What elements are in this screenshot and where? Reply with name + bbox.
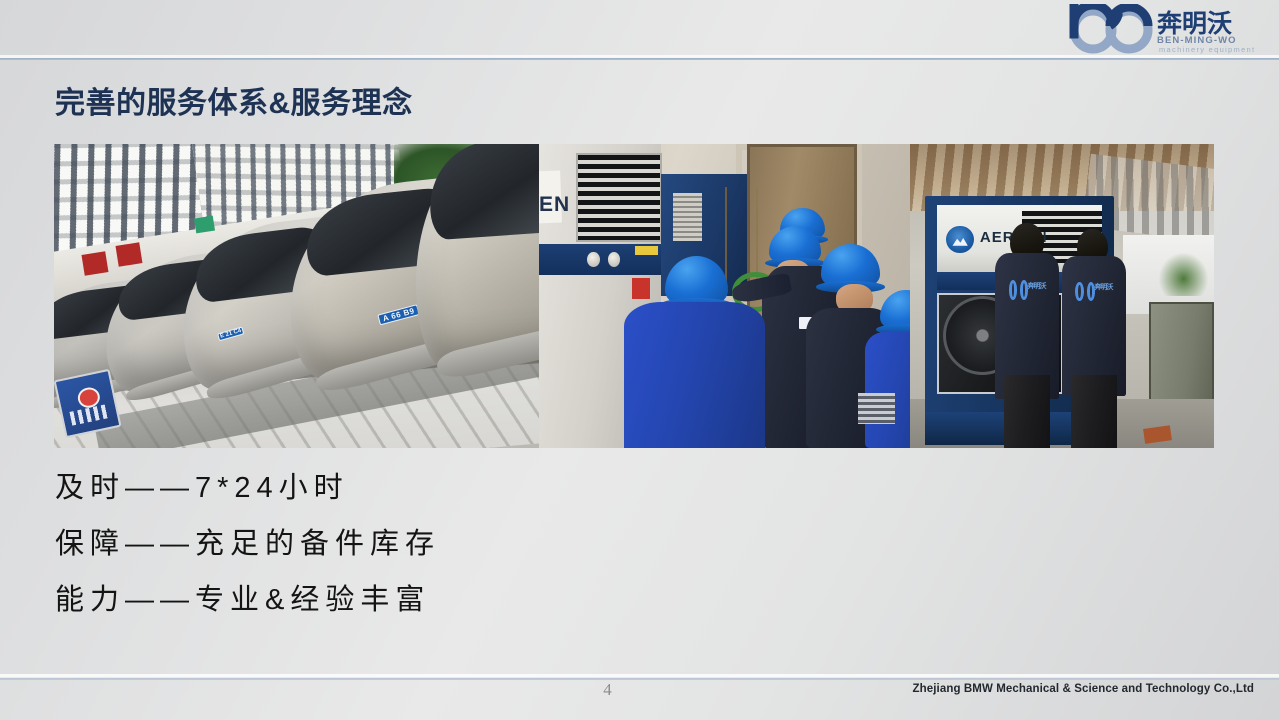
photo3-technician-1-legs	[1004, 375, 1050, 448]
photo3-uniform-bo-mark-1	[1009, 280, 1029, 300]
photo1-parking-notice-board	[54, 369, 122, 438]
photo3-uniform-chinese-2: 奔明沃	[1094, 282, 1112, 292]
photo3-uniform-chinese-1: 奔明沃	[1028, 281, 1046, 291]
logo-chinese-name: 奔明沃	[1157, 9, 1232, 38]
photo2-control-box-vent	[673, 193, 703, 242]
photo3-aerzen-logo-icon	[946, 226, 973, 253]
photo1-license-plate-medium: A 66 B9	[377, 305, 420, 327]
photo2-red-label	[632, 278, 651, 299]
service-principle-timeliness: 及时——7*24小时	[55, 474, 755, 503]
company-logo: 奔明沃 BEN-MING-WO machinery equipment	[1067, 4, 1265, 54]
photo1-license-plate-small: E 21 C4	[217, 326, 245, 341]
service-principle-capability: 能力——专业&经验丰富	[55, 586, 755, 615]
photo2-cabinet-louvers	[576, 153, 662, 242]
header-divider	[0, 57, 1279, 60]
photo3-uniform-back-logo-1: 奔明沃	[1009, 278, 1046, 301]
service-principle-guarantee: 保障——充足的备件库存	[55, 530, 755, 559]
photo-company-service-vehicles: E 21 C4 A 66 B9 G 382P8	[54, 144, 539, 448]
page-title: 完善的服务体系&服务理念	[55, 78, 413, 122]
photo2-reflective-stripe	[858, 393, 895, 423]
service-principles-list: 及时——7*24小时 保障——充足的备件库存 能力——专业&经验丰富	[55, 474, 755, 642]
photo3-technician-2-legs	[1071, 375, 1117, 448]
logo-tagline: machinery equipment	[1159, 45, 1255, 54]
photo2-brand-text: EN	[539, 193, 570, 217]
photo1-red-shop-sign-2	[116, 243, 143, 268]
photo2-technician-1-body	[624, 302, 765, 448]
photo2-gauge-knob-1	[587, 252, 600, 267]
photo-on-site-maintenance-team: EN	[539, 144, 910, 448]
photo3-uniform-bo-mark-2	[1075, 282, 1095, 301]
photo1-red-shop-sign	[82, 252, 109, 277]
photo3-tree	[1159, 253, 1208, 296]
photo1-green-shop-sign	[194, 216, 216, 234]
footer-company-name: Zhejiang BMW Mechanical & Science and Te…	[913, 683, 1254, 695]
photo2-technician-4-body	[865, 332, 910, 448]
photo-strip: E 21 C4 A 66 B9 G 382P8	[54, 144, 1214, 448]
logo-bo-mark	[1074, 5, 1148, 49]
slide-canvas: 奔明沃 BEN-MING-WO machinery equipment 完善的服…	[0, 0, 1279, 720]
photo2-warning-label	[635, 246, 657, 255]
photo-aerzen-blower-servicing: AERZEN 奔明沃 奔明沃	[910, 144, 1214, 448]
photo3-uniform-back-logo-2: 奔明沃	[1075, 280, 1112, 302]
